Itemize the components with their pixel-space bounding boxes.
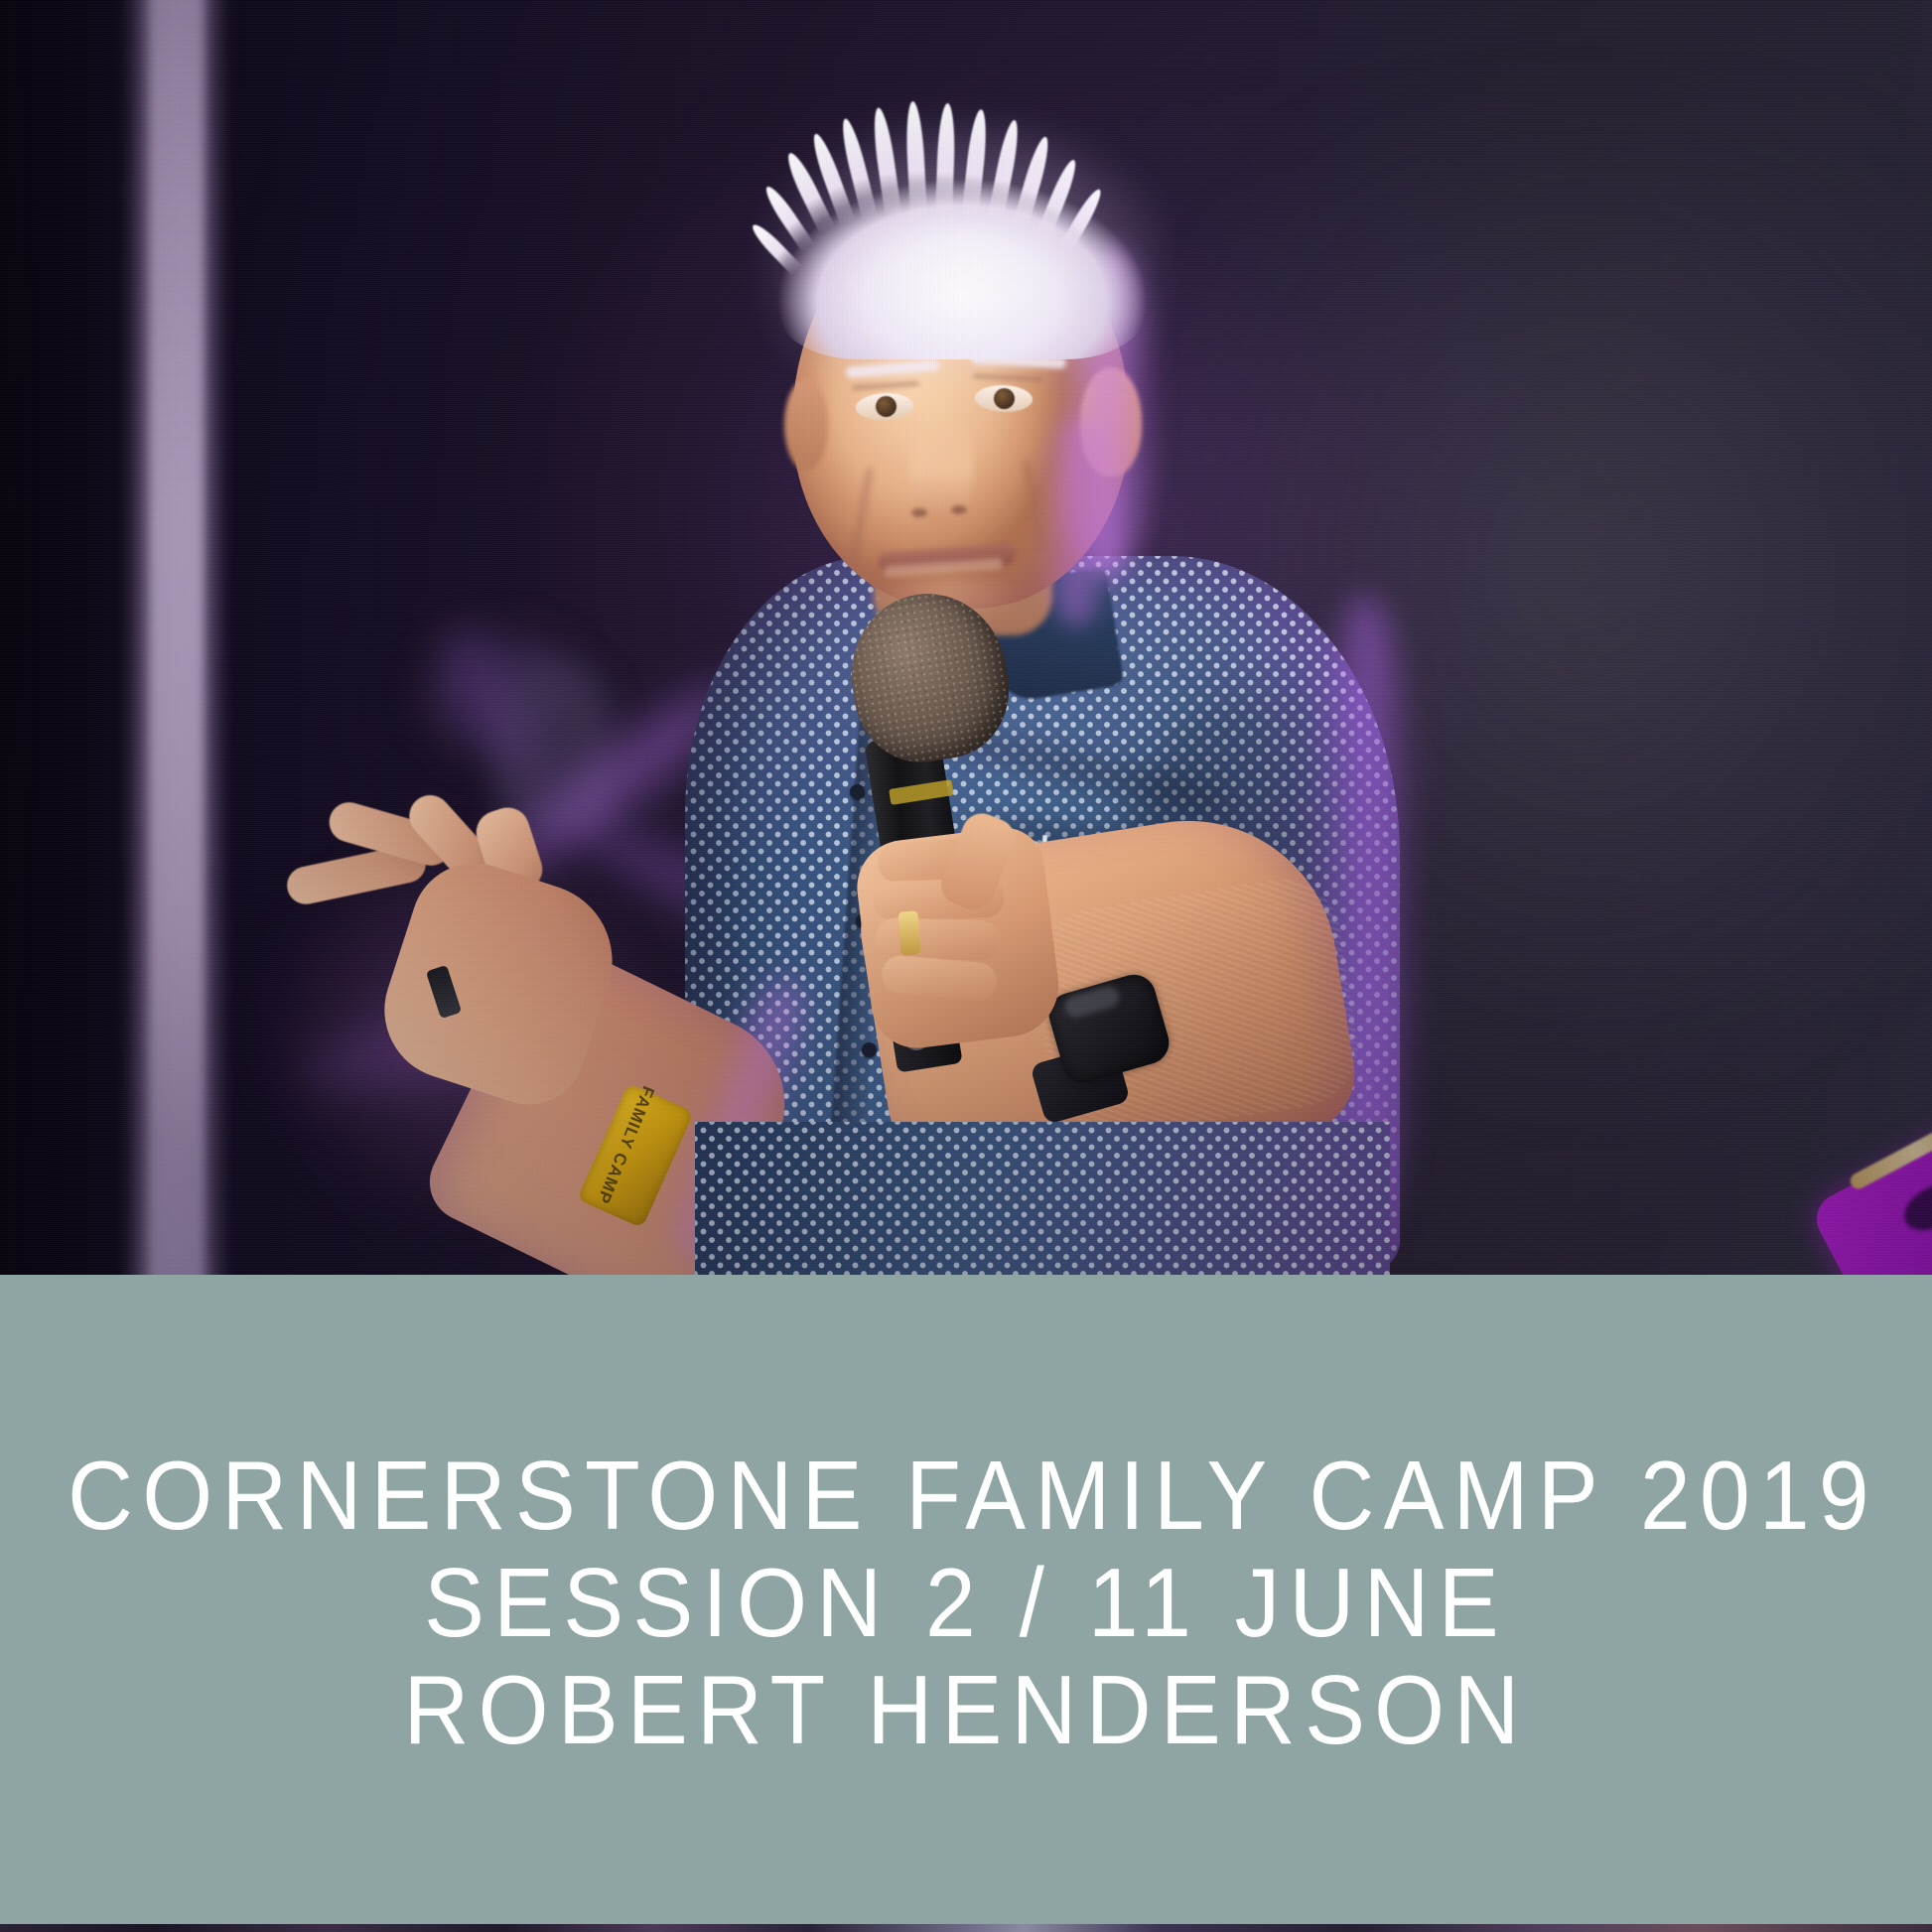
nostril-left [911, 508, 927, 517]
speaker-photo: ck [0, 0, 1932, 1275]
ear-left [784, 379, 828, 471]
nostril-right [951, 505, 967, 514]
caption-line-session-date: SESSION 2 / 11 JUNE [68, 1549, 1864, 1656]
hair-glow [764, 119, 1162, 367]
right-ring-finger [875, 917, 1001, 961]
caption-line-speaker: ROBERT HENDERSON [68, 1656, 1864, 1763]
cheek-purple-rimlight [1035, 417, 1118, 625]
next-photo-strip [0, 1924, 1932, 1932]
iris-left [875, 395, 897, 417]
caption-line-event: CORNERSTONE FAMILY CAMP 2019 [68, 1442, 1864, 1549]
shirt-lower-pindot-pattern [695, 1122, 1390, 1275]
caption-bar: CORNERSTONE FAMILY CAMP 2019 SESSION 2 /… [0, 1275, 1932, 1924]
gold-ring [897, 910, 920, 955]
speaker-figure: ck [0, 0, 1932, 1275]
media-card: ck [0, 0, 1932, 1932]
shirt-button [850, 784, 865, 799]
iris-right [994, 388, 1016, 410]
shirt-button [862, 1042, 877, 1057]
caption-text-block: CORNERSTONE FAMILY CAMP 2019 SESSION 2 /… [0, 1442, 1932, 1763]
